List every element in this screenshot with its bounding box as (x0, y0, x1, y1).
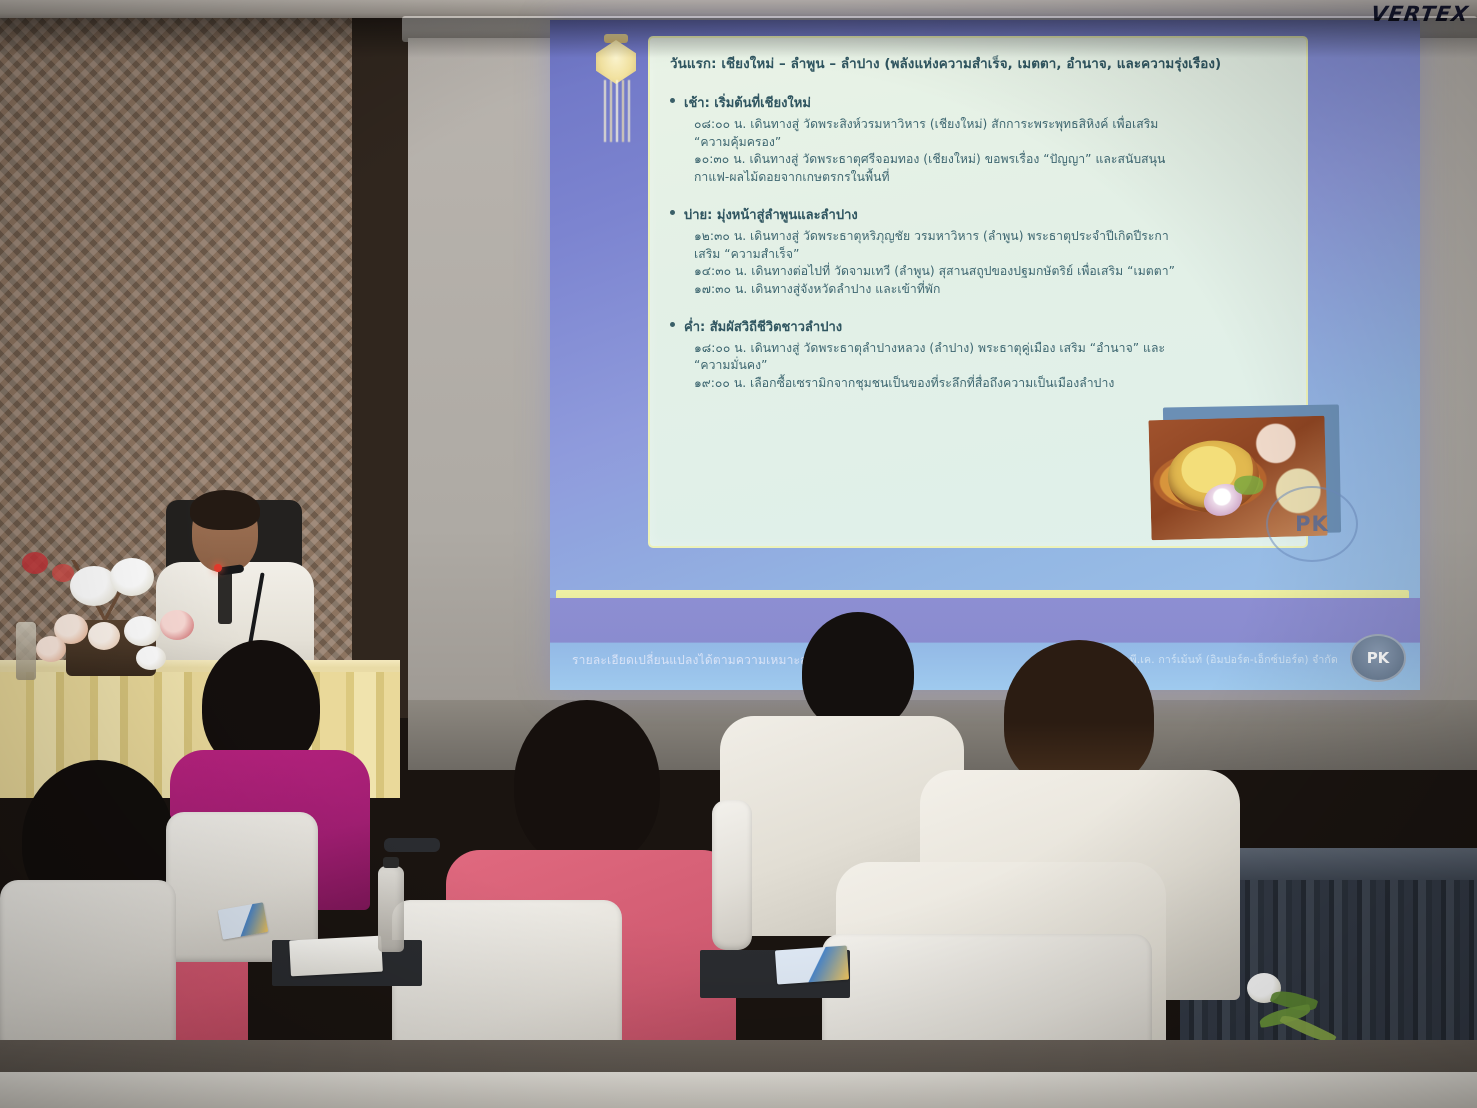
section-line: กาแฟ-ผลไม้ดอยจากเกษตรกรในพื้นที่ (694, 169, 1286, 187)
slide-section-evening: ค่ำ: สัมผัสวิถีชีวิตชาวลำปาง ๑๘:๐๐ น. เด… (670, 316, 1286, 393)
front-table (0, 1072, 1477, 1108)
section-heading: บ่าย: มุ่งหน้าสู่ลำพูนและลำปาง (684, 204, 858, 225)
slide-title: วันแรก: เชียงใหม่ – ลำพูน – ลำปาง (พลังแ… (670, 56, 1286, 74)
slide-section-afternoon: บ่าย: มุ่งหน้าสู่ลำพูนและลำปาง ๑๒:๓๐ น. … (670, 204, 1286, 299)
wall-column-dark (352, 18, 414, 718)
projector-brand-label: VERTEX (1369, 2, 1470, 26)
speaker-hair (190, 490, 260, 530)
section-line: ๐๘:๐๐ น. เดินทางสู่ วัดพระสิงห์วรมหาวิหา… (694, 116, 1286, 134)
slide-food-photo: PK (1150, 412, 1340, 542)
section-line: “ความคุ้มครอง” (694, 134, 1286, 152)
pk-logo-icon: PK (1350, 634, 1406, 682)
conference-room-photo: วันแรก: เชียงใหม่ – ลำพูน – ลำปาง (พลังแ… (0, 0, 1477, 1108)
desk-edge (384, 838, 440, 852)
section-line: ๑๗:๓๐ น. เดินทางสู่จังหวัดลำปาง และเข้าท… (694, 281, 1286, 299)
handout-booklet[interactable] (775, 946, 849, 985)
bullet-icon (670, 322, 675, 327)
slide-background: วันแรก: เชียงใหม่ – ลำพูน – ลำปาง (พลังแ… (550, 20, 1420, 690)
projected-slide: วันแรก: เชียงใหม่ – ลำพูน – ลำปาง (พลังแ… (550, 20, 1420, 690)
greens-garnish (1234, 475, 1263, 495)
chair[interactable] (0, 880, 176, 1050)
section-line: ๑๘:๐๐ น. เดินทางสู่ วัดพระธาตุลำปางหลวง … (694, 340, 1286, 358)
bullet-icon (670, 210, 675, 215)
water-bottle (16, 622, 36, 680)
handout-paper[interactable] (289, 936, 383, 977)
section-line: “ความมั่นคง” (694, 357, 1286, 375)
lanna-lantern-icon (586, 32, 646, 152)
chair[interactable] (712, 800, 752, 950)
section-line: ๑๒:๓๐ น. เดินทางสู่ วัดพระธาตุหริภุญชัย … (694, 228, 1286, 246)
section-line: เสริม “ความสำเร็จ” (694, 246, 1286, 264)
bullet-icon (670, 98, 675, 103)
pk-watermark-icon: PK (1266, 486, 1358, 562)
section-line: ๑๐:๓๐ น. เดินทางสู่ วัดพระธาตุศรีจอมทอง … (694, 151, 1286, 169)
section-line: ๑๙:๐๐ น. เลือกซื้อเซรามิกจากชุมชนเป็นของ… (694, 375, 1286, 393)
section-heading: เช้า: เริ่มต้นที่เชียงใหม่ (684, 92, 811, 113)
section-heading: ค่ำ: สัมผัสวิถีชีวิตชาวลำปาง (684, 316, 842, 337)
slide-section-morning: เช้า: เริ่มต้นที่เชียงใหม่ ๐๘:๐๐ น. เดิน… (670, 92, 1286, 187)
section-line: ๑๔:๓๐ น. เดินทางต่อไปที่ วัดจามเทวี (ลำพ… (694, 263, 1286, 281)
water-bottle (378, 866, 404, 952)
